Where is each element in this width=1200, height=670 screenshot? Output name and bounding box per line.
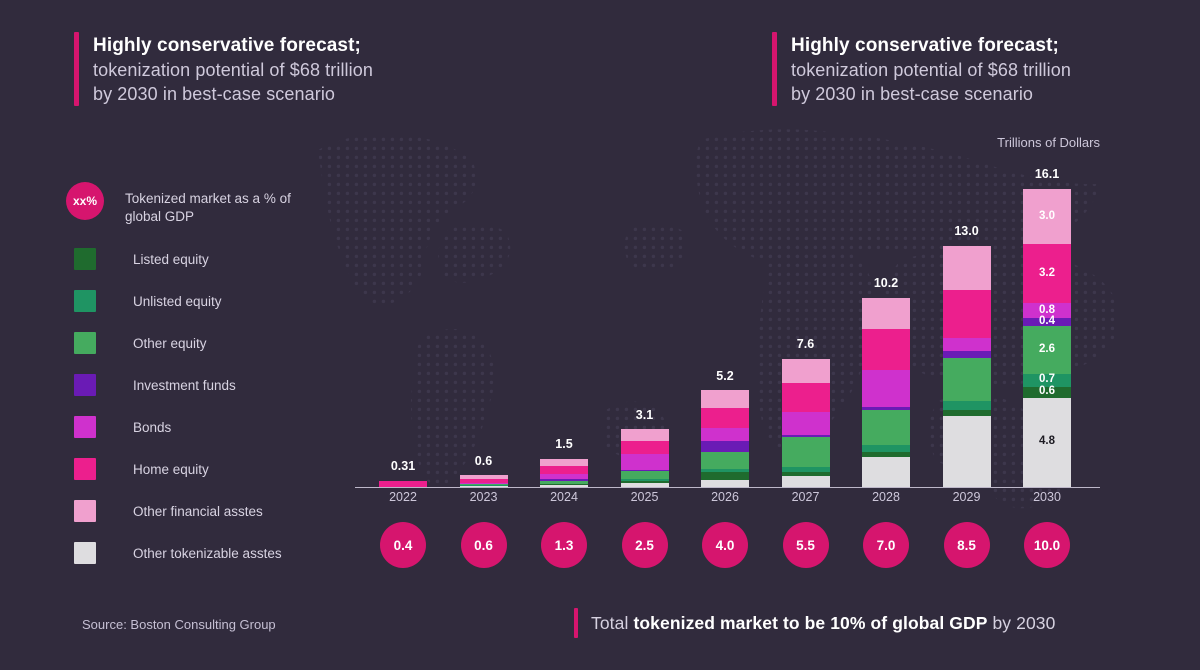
headline-left: Highly conservative forecast; tokenizati… — [74, 32, 373, 106]
bar-segment[interactable] — [621, 471, 669, 479]
chart-x-axis: 202220232024202520262027202820292030 — [355, 490, 1100, 510]
bar-segment[interactable] — [782, 359, 830, 383]
bar-segment[interactable] — [621, 454, 669, 470]
legend-color-swatch — [74, 500, 96, 522]
legend-item-gdp-share: xx% Tokenized market as a % of global GD… — [74, 190, 324, 226]
bar-column-2029[interactable] — [927, 246, 1007, 487]
bar-column-2028[interactable] — [846, 298, 926, 487]
bar-column-2022[interactable] — [363, 481, 443, 487]
chart-units-label: Trillions of Dollars — [997, 135, 1100, 150]
legend-item: Investment funds — [74, 374, 324, 396]
source-credit: Source: Boston Consulting Group — [82, 617, 276, 632]
bar-segment[interactable] — [621, 429, 669, 440]
bar-segment[interactable]: 0.6 — [1023, 387, 1071, 398]
bar-segment[interactable] — [701, 452, 749, 469]
bar-segment[interactable] — [782, 476, 830, 487]
x-axis-tick-2027: 2027 — [766, 490, 846, 504]
bar-segment[interactable]: 2.6 — [1023, 326, 1071, 374]
bar-segment[interactable]: 3.0 — [1023, 189, 1071, 245]
legend-item: Home equity — [74, 458, 324, 480]
legend-item: Other financial asstes — [74, 500, 324, 522]
bar-total-label-2024: 1.5 — [524, 437, 604, 451]
bar-segment[interactable] — [943, 401, 991, 409]
bar-total-label-2025: 3.1 — [605, 408, 685, 422]
legend-color-swatch — [74, 374, 96, 396]
x-axis-tick-2023: 2023 — [444, 490, 524, 504]
bar-column-2026[interactable] — [685, 390, 765, 486]
gdp-share-circle-2025[interactable]: 2.5 — [622, 522, 668, 568]
legend-item-label: Home equity — [133, 458, 209, 479]
bar-column-2023[interactable] — [444, 475, 524, 486]
bar-total-label-2029: 13.0 — [927, 224, 1007, 238]
bar-segment[interactable] — [621, 441, 669, 454]
x-axis-tick-2028: 2028 — [846, 490, 926, 504]
bar-segment[interactable] — [782, 383, 830, 412]
legend-item: Other tokenizable asstes — [74, 542, 324, 564]
legend-item: Unlisted equity — [74, 290, 324, 312]
bar-segment[interactable] — [943, 338, 991, 351]
gdp-share-circles-row: 0.40.61.32.54.05.57.08.510.0 — [355, 522, 1100, 568]
bar-segment[interactable] — [862, 410, 910, 445]
legend-item-label: Listed equity — [133, 248, 209, 269]
gdp-share-circle-2029[interactable]: 8.5 — [944, 522, 990, 568]
gdp-share-circle-2022[interactable]: 0.4 — [380, 522, 426, 568]
bar-segment[interactable] — [943, 246, 991, 290]
bar-stack — [379, 481, 427, 487]
bar-segment[interactable] — [701, 480, 749, 486]
gdp-share-circle-2030[interactable]: 10.0 — [1024, 522, 1070, 568]
accent-rule — [772, 32, 777, 106]
bar-segment[interactable] — [862, 329, 910, 370]
bar-segment[interactable] — [701, 428, 749, 441]
legend-color-swatch — [74, 416, 96, 438]
bar-stack — [460, 475, 508, 486]
legend-item-label: Other tokenizable asstes — [133, 542, 282, 563]
bar-segment[interactable] — [782, 412, 830, 435]
legend-color-swatch — [74, 248, 96, 270]
bar-segment-value: 3.2 — [1039, 268, 1055, 280]
legend-label-gdp-share: Tokenized market as a % of global GDP — [125, 190, 324, 226]
x-axis-tick-2022: 2022 — [363, 490, 443, 504]
bar-segment[interactable] — [943, 358, 991, 401]
footer-callout: Total tokenized market to be 10% of glob… — [574, 608, 1055, 638]
bar-segment[interactable] — [943, 416, 991, 486]
bar-segment[interactable] — [782, 437, 830, 467]
legend-color-swatch — [74, 542, 96, 564]
bar-segment[interactable] — [701, 472, 749, 480]
chart-plot-area: 0.310.61.53.15.27.610.213.03.03.20.80.42… — [355, 160, 1100, 488]
bar-stack: 3.03.20.80.42.60.70.64.8 — [1023, 189, 1071, 487]
gdp-share-circle-2026[interactable]: 4.0 — [702, 522, 748, 568]
bar-stack — [862, 298, 910, 487]
headline-right: Highly conservative forecast; tokenizati… — [772, 32, 1071, 106]
stacked-bar-chart: Trillions of Dollars 0.310.61.53.15.27.6… — [355, 130, 1100, 560]
bar-segment[interactable] — [540, 466, 588, 474]
legend-color-swatch — [74, 290, 96, 312]
bar-column-2024[interactable] — [524, 459, 604, 487]
footer-callout-text: Total tokenized market to be 10% of glob… — [591, 613, 1055, 634]
bar-stack — [621, 429, 669, 486]
bar-stack — [943, 246, 991, 487]
footer-text-pre: Total — [591, 613, 633, 633]
bar-segment-value: 3.0 — [1039, 211, 1055, 223]
bar-segment[interactable]: 0.7 — [1023, 374, 1071, 387]
x-axis-tick-2026: 2026 — [685, 490, 765, 504]
bar-segment[interactable] — [862, 370, 910, 407]
legend-item-label: Investment funds — [133, 374, 236, 395]
legend-item: Listed equity — [74, 248, 324, 270]
bar-segment[interactable] — [701, 441, 749, 452]
legend-color-swatch — [74, 458, 96, 480]
gdp-share-circle-2027[interactable]: 5.5 — [783, 522, 829, 568]
legend-item: Other equity — [74, 332, 324, 354]
chart-legend: xx% Tokenized market as a % of global GD… — [74, 190, 324, 584]
legend-item-label: Unlisted equity — [133, 290, 222, 311]
bar-segment[interactable]: 0.8 — [1023, 303, 1071, 318]
bar-segment[interactable] — [862, 457, 910, 487]
footer-text-strong: tokenized market to be 10% of global GDP — [633, 613, 987, 633]
bar-column-2025[interactable] — [605, 429, 685, 486]
bar-segment-value: 0.6 — [1039, 386, 1055, 398]
gdp-share-circle-2024[interactable]: 1.3 — [541, 522, 587, 568]
bar-stack — [782, 359, 830, 487]
legend-item-label: Other equity — [133, 332, 207, 353]
bar-segment-value: 0.7 — [1039, 374, 1055, 386]
legend-item-label: Bonds — [133, 416, 171, 437]
headline-line-2: tokenization potential of $68 trillion — [93, 58, 373, 82]
bar-column-2030[interactable]: 3.03.20.80.42.60.70.64.8 — [1007, 189, 1087, 487]
gdp-percent-badge: xx% — [66, 182, 104, 220]
legend-item-label: Other financial asstes — [133, 500, 263, 521]
bar-segment[interactable] — [701, 408, 749, 428]
x-axis-tick-2024: 2024 — [524, 490, 604, 504]
bar-segment[interactable]: 3.2 — [1023, 244, 1071, 303]
bar-total-label-2028: 10.2 — [846, 276, 926, 290]
bar-total-label-2026: 5.2 — [685, 369, 765, 383]
headline-line-3: by 2030 in best-case scenario — [93, 82, 373, 106]
x-axis-tick-2025: 2025 — [605, 490, 685, 504]
bar-segment[interactable] — [379, 481, 427, 487]
headline-strong-text: Highly conservative forecast; — [791, 33, 1071, 58]
headline-strong-text: Highly conservative forecast; — [93, 33, 373, 58]
chart-baseline-axis — [355, 487, 1100, 489]
x-axis-tick-2030: 2030 — [1007, 490, 1087, 504]
bar-segment[interactable] — [701, 390, 749, 408]
bar-segment[interactable] — [540, 485, 588, 486]
bar-total-label-2027: 7.6 — [766, 337, 846, 351]
bar-segment[interactable] — [862, 298, 910, 329]
bar-segment[interactable]: 4.8 — [1023, 398, 1071, 487]
legend-color-swatch — [74, 332, 96, 354]
bar-total-label-2030: 16.1 — [1007, 167, 1087, 181]
bar-total-label-2022: 0.31 — [363, 459, 443, 473]
bar-segment-value: 4.8 — [1039, 436, 1055, 448]
bar-segment-value: 0.8 — [1039, 305, 1055, 317]
headline-line-3: by 2030 in best-case scenario — [791, 82, 1071, 106]
bar-segment[interactable] — [943, 290, 991, 338]
legend-item: Bonds — [74, 416, 324, 438]
accent-rule — [74, 32, 79, 106]
x-axis-tick-2029: 2029 — [927, 490, 1007, 504]
bar-column-2027[interactable] — [766, 359, 846, 487]
bar-stack — [701, 390, 749, 486]
headline-line-2: tokenization potential of $68 trillion — [791, 58, 1071, 82]
bar-segment-value: 2.6 — [1039, 344, 1055, 356]
bar-total-label-2023: 0.6 — [444, 454, 524, 468]
bar-segment[interactable] — [540, 459, 588, 466]
bar-segment[interactable]: 0.4 — [1023, 318, 1071, 325]
footer-text-post: by 2030 — [988, 613, 1056, 633]
bar-stack — [540, 459, 588, 487]
gdp-share-circle-2028[interactable]: 7.0 — [863, 522, 909, 568]
bar-segment[interactable] — [621, 483, 669, 487]
accent-rule — [574, 608, 578, 638]
gdp-share-circle-2023[interactable]: 0.6 — [461, 522, 507, 568]
